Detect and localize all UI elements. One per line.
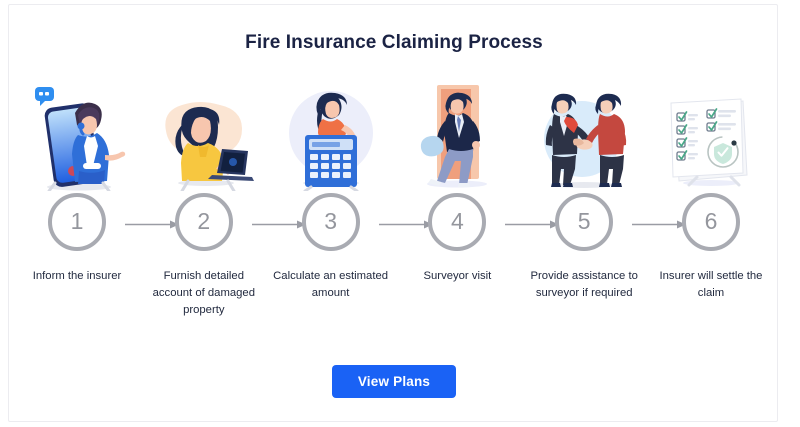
person-on-calculator-icon [275, 79, 387, 191]
step-number: 3 [324, 210, 337, 233]
connector-arrow-2-to-3 [252, 220, 308, 229]
step-circle-1: 1 [48, 193, 106, 251]
connector-arrow-3-to-4 [379, 220, 435, 229]
step-caption: Inform the insurer [19, 268, 135, 285]
infographic-card: Fire Insurance Claiming Process [8, 4, 778, 422]
view-plans-button[interactable]: View Plans [332, 365, 456, 398]
man-walking-through-door-icon [401, 79, 513, 191]
step-circle-6: 6 [682, 193, 740, 251]
step-circle-4: 4 [428, 193, 486, 251]
page-title: Fire Insurance Claiming Process [9, 32, 778, 54]
connector-arrow-4-to-5 [505, 220, 561, 229]
step-circle-3: 3 [302, 193, 360, 251]
process-step-1: 1 Inform the insurer [21, 79, 133, 285]
process-step-2: 2 Furnish detailed account of damaged pr… [148, 79, 260, 319]
step-caption: Provide assistance to surveyor if requir… [526, 268, 642, 302]
step-number: 5 [578, 210, 591, 233]
step-caption: Calculate an estimated amount [273, 268, 389, 302]
step-circle-5: 5 [555, 193, 613, 251]
process-step-4: 4 Surveyor visit [401, 79, 513, 285]
process-step-3: 3 Calculate an estimated amount [275, 79, 387, 302]
process-step-6: 6 Insurer will settle the claim [655, 79, 767, 302]
step-number: 6 [705, 210, 718, 233]
step-number: 4 [451, 210, 464, 233]
connector-arrow-5-to-6 [632, 220, 688, 229]
process-steps-row: 1 Inform the insurer [21, 79, 767, 349]
cta-row: View Plans [9, 365, 778, 398]
step-caption: Surveyor visit [399, 268, 515, 285]
process-step-5: 5 Provide assistance to surveyor if requ… [528, 79, 640, 302]
connector-arrow-1-to-2 [125, 220, 181, 229]
step-number: 2 [197, 210, 210, 233]
step-caption: Insurer will settle the claim [653, 268, 769, 302]
step-number: 1 [71, 210, 84, 233]
woman-with-headset-on-smartphone-icon [21, 79, 133, 191]
checklist-document-with-shield-icon [655, 79, 767, 191]
two-people-handshake-icon [528, 79, 640, 191]
step-caption: Furnish detailed account of damaged prop… [146, 268, 262, 319]
step-circle-2: 2 [175, 193, 233, 251]
woman-with-laptop-icon [148, 79, 260, 191]
